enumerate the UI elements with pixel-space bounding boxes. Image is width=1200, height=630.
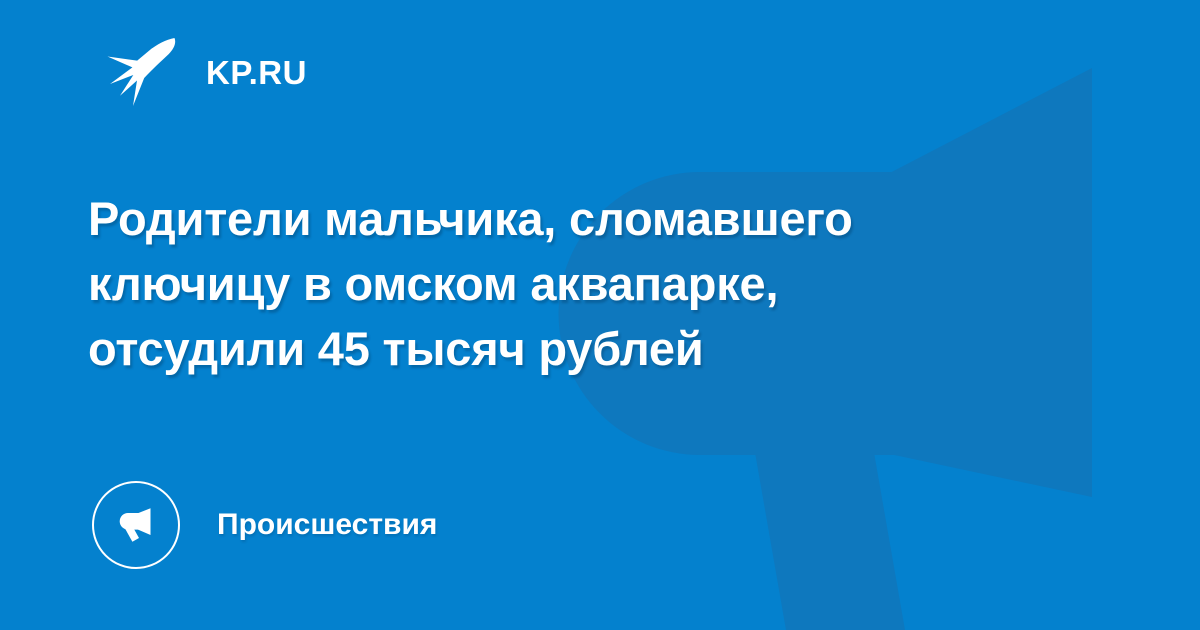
headline-line-3: отсудили 45 тысяч рублей bbox=[88, 316, 1098, 381]
headline-line-1: Родители мальчика, сломавшего bbox=[88, 186, 1098, 251]
share-card: KP.RU Родители мальчика, сломавшего ключ… bbox=[0, 0, 1200, 630]
brand-wordmark: KP.RU bbox=[206, 56, 307, 89]
megaphone-icon bbox=[113, 502, 159, 548]
brand-header[interactable]: KP.RU bbox=[104, 36, 307, 108]
category-label: Происшествия bbox=[217, 510, 437, 540]
swallow-bird-icon bbox=[104, 36, 178, 108]
category-icon-circle bbox=[92, 481, 180, 569]
headline-line-2: ключицу в омском аквапарке, bbox=[88, 251, 1098, 316]
headline: Родители мальчика, сломавшего ключицу в … bbox=[88, 186, 1098, 381]
category-badge[interactable]: Происшествия bbox=[92, 481, 437, 569]
